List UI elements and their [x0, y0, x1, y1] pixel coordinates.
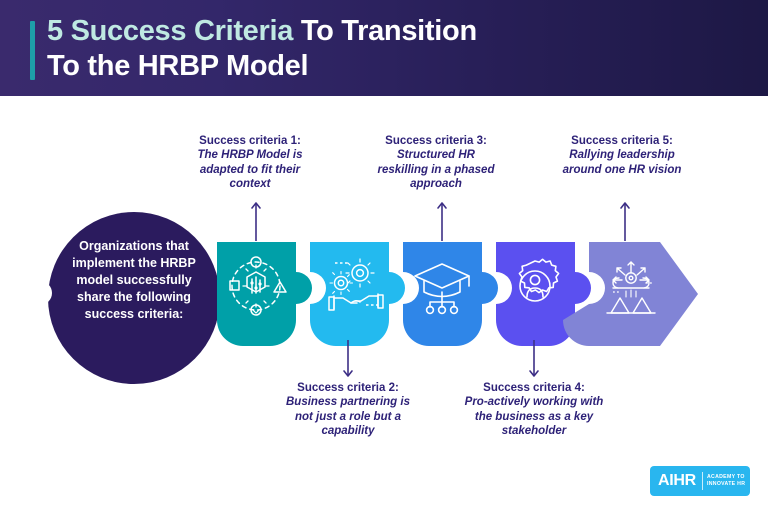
connector-arrow-3 — [438, 203, 446, 241]
logo-tagline-line2: INNOVATE HR — [707, 481, 745, 487]
criteria-1-body: The HRBP Model is adapted to fit their c… — [186, 148, 314, 192]
connector-arrow-2 — [344, 340, 352, 376]
criteria-5-label: Success criteria 5: Rallying leadership … — [558, 134, 686, 177]
criteria-4-body: Pro-actively working with the business a… — [464, 395, 604, 439]
puzzle-piece-1[interactable] — [217, 242, 312, 346]
puzzle-piece-5-shape — [563, 242, 698, 346]
gear-person-icon — [519, 259, 558, 301]
puzzle-piece-5[interactable] — [563, 242, 698, 346]
handshake-gears-icon — [329, 259, 383, 310]
connector-arrow-4 — [530, 340, 538, 376]
title-accent-text: 5 Success Criteria — [47, 15, 293, 47]
puzzle-piece-3-shape — [403, 242, 498, 346]
criteria-1-header: Success criteria 1: — [186, 134, 314, 148]
infographic-canvas: 5 Success Criteria To Transition To the … — [0, 0, 768, 510]
title-accent-bar — [30, 21, 35, 80]
puzzle-piece-4-shape — [496, 242, 591, 346]
puzzle-piece-3[interactable] — [403, 242, 498, 346]
criteria-3-header: Success criteria 3: — [372, 134, 500, 148]
criteria-3-label: Success criteria 3: Structured HR reskil… — [372, 134, 500, 192]
criteria-4-label: Success criteria 4: Pro-actively working… — [464, 381, 604, 439]
logo-tagline: ACADEMY TO INNOVATE HR — [707, 474, 745, 488]
criteria-5-header: Success criteria 5: — [558, 134, 686, 148]
puzzle-piece-2[interactable] — [310, 242, 405, 346]
logo-tagline-line1: ACADEMY TO — [707, 474, 745, 480]
connector-arrow-1 — [252, 203, 260, 241]
intro-circle-notch-dot — [28, 281, 52, 305]
graduation-cap-icon — [415, 264, 469, 313]
vision-mountain-icon — [607, 262, 655, 313]
header-banner: 5 Success Criteria To Transition To the … — [0, 0, 768, 96]
puzzle-piece-1-shape — [217, 242, 312, 346]
intro-text: Organizations that implement the HRBP mo… — [60, 238, 208, 323]
adaptable-gear-icon — [230, 257, 286, 315]
puzzle-piece-4[interactable] — [496, 242, 591, 346]
title-rest-text: To Transition — [293, 15, 477, 47]
criteria-2-body: Business partnering is not just a role b… — [278, 395, 418, 439]
criteria-3-body: Structured HR reskilling in a phased app… — [372, 148, 500, 192]
connector-arrows — [252, 203, 629, 376]
criteria-2-header: Success criteria 2: — [278, 381, 418, 395]
logo-wordmark: AIHR — [658, 473, 696, 489]
title-line2-text: To the HRBP Model — [47, 50, 308, 82]
criteria-2-label: Success criteria 2: Business partnering … — [278, 381, 418, 439]
page-title: 5 Success Criteria To Transition To the … — [47, 14, 747, 84]
connector-arrow-5 — [621, 203, 629, 241]
criteria-1-label: Success criteria 1: The HRBP Model is ad… — [186, 134, 314, 192]
puzzle-piece-2-shape — [310, 242, 405, 346]
logo-divider — [702, 472, 703, 490]
criteria-4-header: Success criteria 4: — [464, 381, 604, 395]
criteria-5-body: Rallying leadership around one HR vision — [558, 148, 686, 177]
aihr-logo[interactable]: AIHR ACADEMY TO INNOVATE HR — [650, 466, 750, 496]
